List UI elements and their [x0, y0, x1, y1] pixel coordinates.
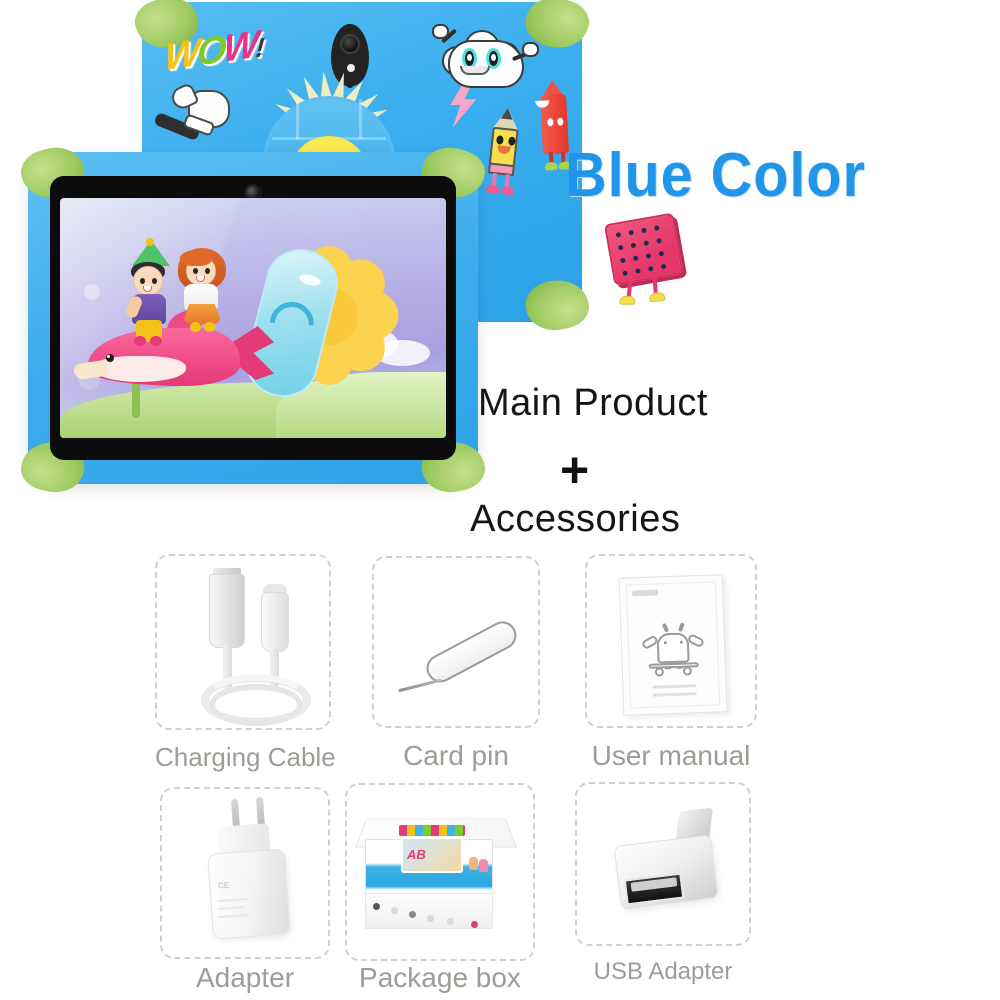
accessory-box-package-box: AB — [345, 783, 535, 961]
main-product-label: Main Product — [478, 382, 708, 425]
accessory-label-usb-adapter: USB Adapter — [575, 958, 751, 986]
calculator-character-sticker — [598, 210, 706, 324]
usb-cable-icon — [157, 556, 329, 728]
accessory-label-adapter: Adapter — [160, 962, 330, 994]
sim-ejector-pin-icon — [344, 529, 568, 754]
pencil-character-sticker — [475, 106, 532, 203]
package-ab-text: AB — [407, 847, 426, 862]
wow-letter-1: W — [163, 32, 199, 79]
accessories-label: Accessories — [470, 498, 680, 541]
accessory-box-card-pin — [372, 556, 540, 728]
android-robot-icon — [643, 620, 703, 678]
wow-letter-2: O — [196, 28, 225, 75]
accessory-box-usb-adapter — [575, 782, 751, 946]
kids-tablet-front — [28, 152, 478, 484]
accessory-box-charging-cable — [155, 554, 331, 730]
ce-rohs-marking: CE — [218, 881, 230, 891]
accessory-box-user-manual — [585, 554, 757, 728]
usb-otg-adapter-icon — [577, 784, 749, 944]
color-variant-title: Blue Color — [565, 140, 866, 211]
retail-box-icon: AB — [347, 785, 533, 959]
accessory-label-package-box: Package box — [345, 962, 535, 994]
accessory-label-charging-cable: Charging Cable — [155, 742, 331, 773]
plus-symbol: + — [560, 445, 589, 495]
wow-letter-3: W — [222, 24, 258, 71]
tablet-screen — [60, 198, 446, 438]
manual-booklet-icon — [619, 574, 728, 716]
product-listing-image: WOW! — [0, 0, 1000, 1000]
tablet-bezel — [50, 176, 456, 460]
accessory-box-adapter: CE — [160, 787, 330, 959]
accessory-label-card-pin: Card pin — [372, 740, 540, 772]
kid-girl-graphic — [176, 242, 238, 328]
accessory-label-user-manual: User manual — [578, 740, 764, 772]
thumbs-up-glove-icon — [170, 84, 240, 144]
wall-charger-icon: CE — [162, 789, 328, 957]
